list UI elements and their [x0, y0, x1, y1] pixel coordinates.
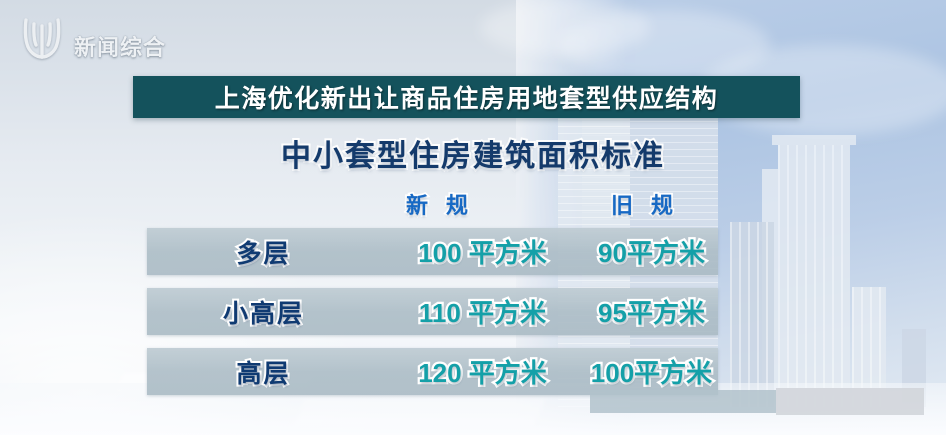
cell-old-standard: 95平方米 [585, 288, 718, 335]
building-tower-main [778, 145, 850, 407]
cell-new-standard: 100 平方米 [380, 228, 585, 275]
table-row: 小高层 110 平方米 95平方米 [147, 288, 718, 335]
lower-third-plate [590, 390, 776, 413]
cloud-shape [480, 0, 650, 55]
cell-old-standard: 100平方米 [585, 348, 718, 395]
cell-old-standard: 90平方米 [585, 228, 718, 275]
cell-building-type: 高层 [147, 348, 380, 395]
cell-new-standard: 110 平方米 [380, 288, 585, 335]
lower-third-plate-secondary [776, 388, 924, 415]
headline-bar: 上海优化新出让商品住房用地套型供应结构 [133, 76, 800, 118]
column-header-old: 旧 规 [585, 188, 705, 220]
subtitle-text: 中小套型住房建筑面积标准 [281, 140, 665, 173]
broadcast-graphic-frame: 新闻综合 上海优化新出让商品住房用地套型供应结构 中小套型住房建筑面积标准 新 … [0, 0, 946, 435]
building-tower-side [730, 222, 774, 407]
table-row: 多层 100 平方米 90平方米 [147, 228, 718, 275]
table-row: 高层 120 平方米 100平方米 [147, 348, 718, 395]
column-header-new: 新 规 [380, 188, 500, 220]
channel-name: 新闻综合 [74, 30, 166, 64]
cell-new-standard: 120 平方米 [380, 348, 585, 395]
smg-tulip-logo-icon [16, 14, 68, 64]
cell-building-type: 小高层 [147, 288, 380, 335]
cell-building-type: 多层 [147, 228, 380, 275]
channel-logo: 新闻综合 [16, 14, 166, 64]
subtitle: 中小套型住房建筑面积标准 [0, 131, 946, 175]
headline-text: 上海优化新出让商品住房用地套型供应结构 [215, 79, 719, 115]
